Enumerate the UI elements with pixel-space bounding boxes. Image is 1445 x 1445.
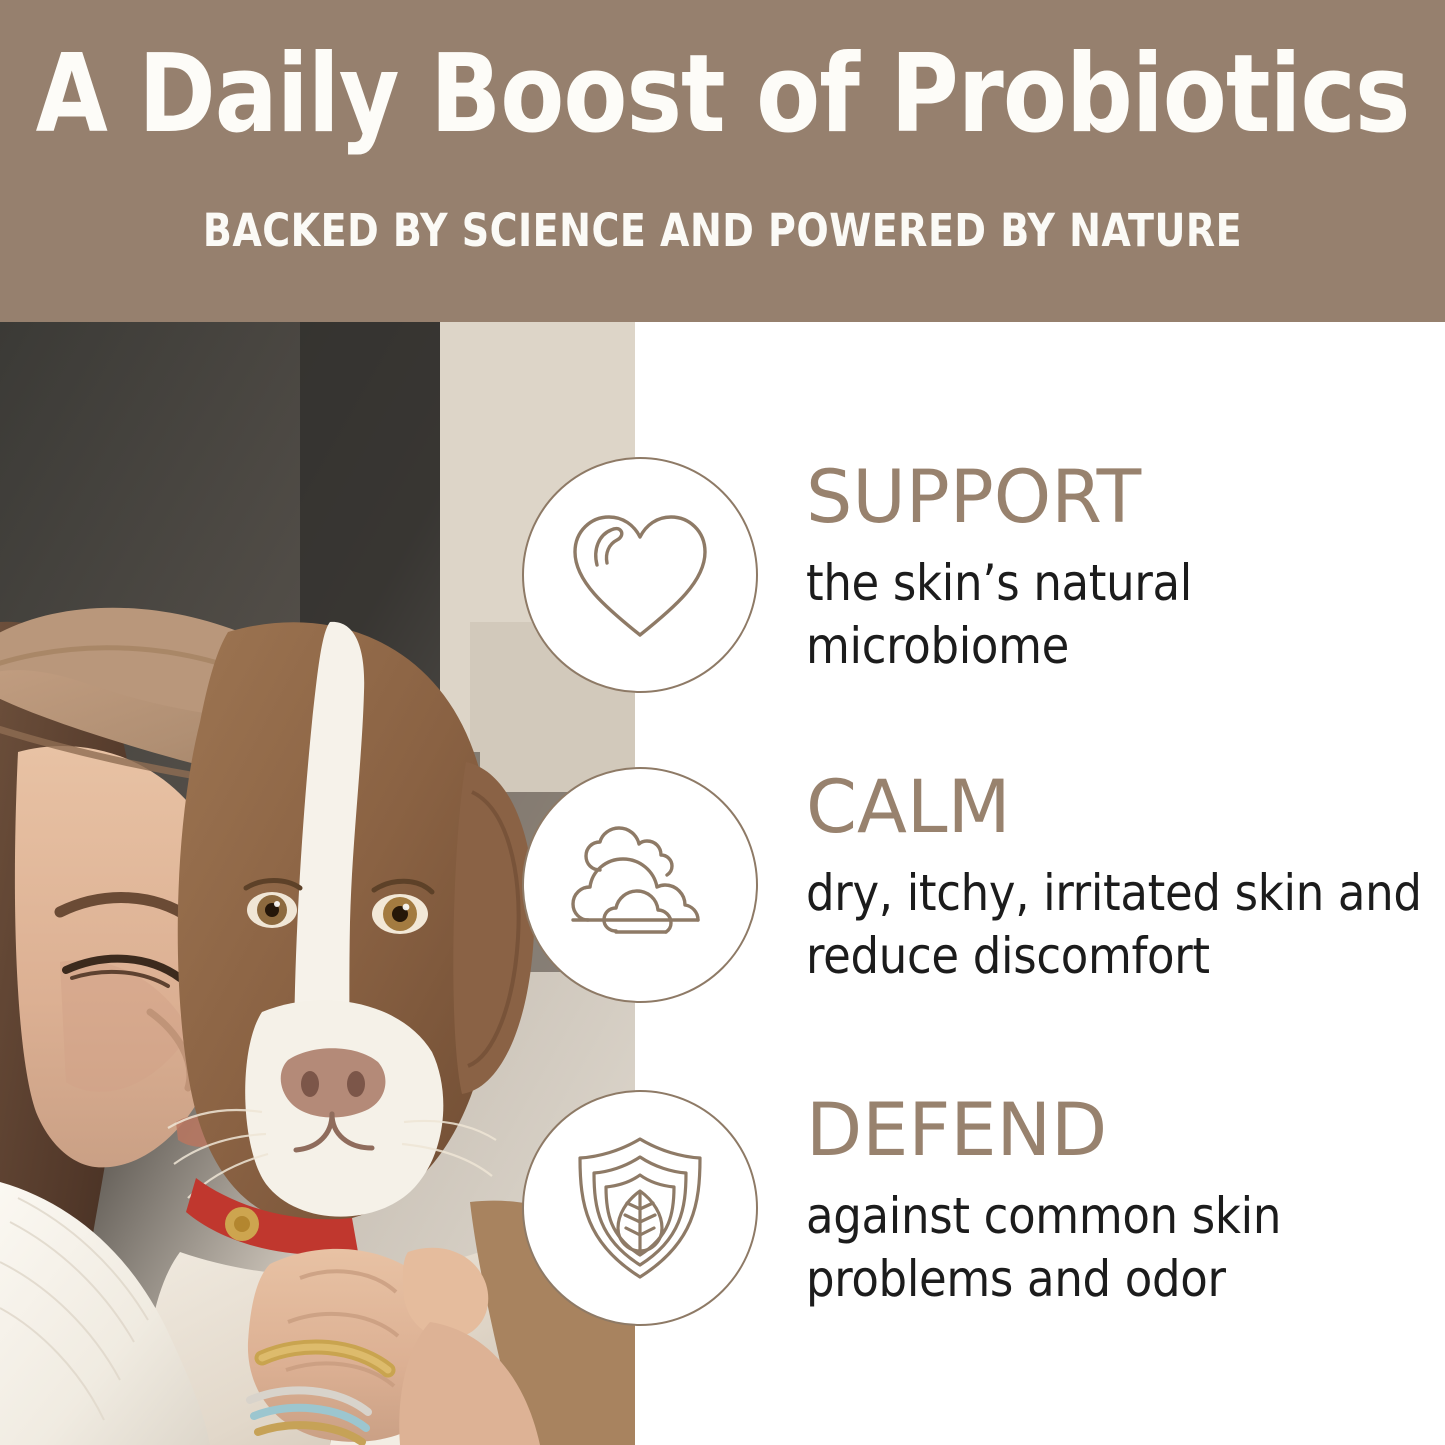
- shield-leaf-icon: [522, 1090, 758, 1326]
- benefit-item-calm: CALM dry, itchy, irritated skin and redu…: [0, 767, 1445, 1007]
- probiotics-benefits-infographic: A Daily Boost of Probiotics BACKED BY SC…: [0, 0, 1445, 1445]
- benefit-text-calm: CALM dry, itchy, irritated skin and redu…: [806, 771, 1426, 988]
- benefit-text-support: SUPPORT the skin’s natural microbiome: [806, 461, 1426, 678]
- benefit-text-defend: DEFEND against common skin problems and …: [806, 1094, 1426, 1311]
- page-subtitle: BACKED BY SCIENCE AND POWERED BY NATURE: [43, 204, 1401, 257]
- benefit-item-defend: DEFEND against common skin problems and …: [0, 1090, 1445, 1330]
- benefit-description: the skin’s natural microbiome: [806, 552, 1426, 678]
- benefit-description: against common skin problems and odor: [806, 1185, 1426, 1311]
- page-title: A Daily Boost of Probiotics: [29, 38, 1416, 151]
- heart-icon: [522, 457, 758, 693]
- clouds-icon: [522, 767, 758, 1003]
- header-banner: A Daily Boost of Probiotics BACKED BY SC…: [0, 0, 1445, 322]
- benefit-description: dry, itchy, irritated skin and reduce di…: [806, 862, 1426, 988]
- benefit-title: SUPPORT: [806, 461, 1426, 534]
- benefit-item-support: SUPPORT the skin’s natural microbiome: [0, 457, 1445, 697]
- benefit-title: CALM: [806, 771, 1426, 844]
- benefit-title: DEFEND: [806, 1094, 1426, 1167]
